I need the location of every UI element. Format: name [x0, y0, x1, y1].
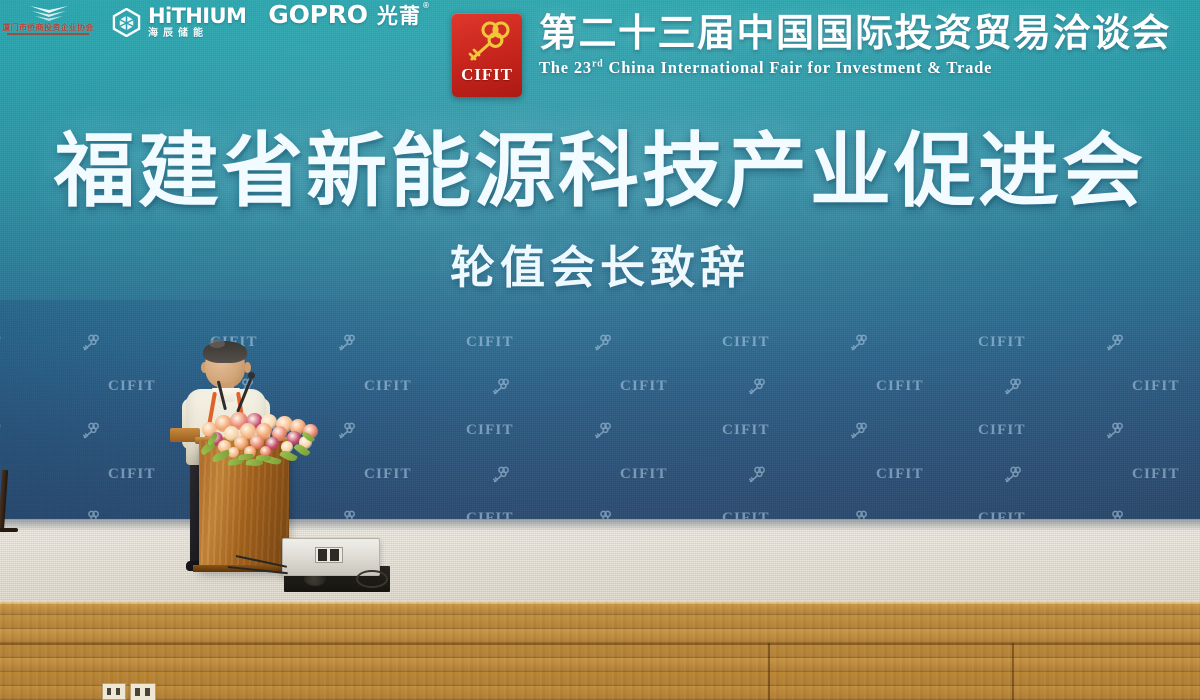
- watermark-98-key-icon: [82, 422, 99, 444]
- stage-edge-lip: [0, 601, 1200, 604]
- stage-panel-seam-h: [0, 643, 1200, 645]
- stage-floor: [0, 519, 1200, 601]
- flower-arrangement: [198, 410, 328, 472]
- watermark-98-key-icon: [82, 510, 99, 519]
- stage-wood-slat: [0, 686, 1200, 700]
- event-title-en-suffix: China International Fair for Investment …: [604, 58, 993, 77]
- speaker-hair: [203, 341, 247, 363]
- watermark-98-key-icon: [1106, 510, 1123, 519]
- watermark-text: CIFIT: [978, 422, 1026, 439]
- watermark-98-key-icon: [594, 422, 611, 444]
- watermark-text: CIFIT: [978, 510, 1026, 519]
- event-title-en-prefix: The 23: [539, 58, 592, 77]
- sponsor-label-xiamen: 厦门市侨商投资企业协会: [2, 22, 94, 33]
- watermark-text: CIFIT: [364, 378, 412, 395]
- watermark-text: CIFIT: [620, 466, 668, 483]
- watermark-text: CIFIT: [466, 510, 514, 519]
- sponsor-logo-gopro: GOPRO 光莆 ®: [268, 0, 421, 44]
- watermark-text: CIFIT: [108, 378, 156, 395]
- 98-key-icon: [464, 19, 511, 64]
- sponsor-label-gopro-en: GOPRO: [268, 0, 368, 29]
- sponsor-gopro-cn-text: 光莆: [377, 5, 421, 28]
- sponsor-rule-xiamen: [7, 33, 89, 35]
- screenshot-root: 厦门市侨商投资企业协会 HiTHIUM 海辰储能 GOPRO 光莆 ®: [0, 0, 1200, 700]
- stage-wood-slat: [0, 629, 1200, 643]
- sponsor-logo-xiamen-association: 厦门市侨商投资企业协会: [2, 2, 94, 42]
- stage-wood-front: [0, 601, 1200, 700]
- watermark-text: CIFIT: [466, 334, 514, 351]
- event-title-en-ordinal: rd: [592, 58, 604, 69]
- watermark-text: CIFIT: [876, 378, 924, 395]
- watermark-text: CIFIT: [1132, 466, 1180, 483]
- stage-wood-slat: [0, 643, 1200, 657]
- floor-texture: [0, 519, 1200, 601]
- watermark-98-key-icon: [850, 422, 867, 444]
- watermark-98-key-icon: [338, 422, 355, 444]
- watermark-98-key-icon: [594, 334, 611, 356]
- wing-emblem-icon: [28, 4, 70, 22]
- watermark-text: CIFIT: [978, 334, 1026, 351]
- sponsor-label-hithium-cn: 海辰储能: [148, 29, 246, 39]
- event-title-en: The 23rd China International Fair for In…: [539, 58, 1171, 78]
- watermark-98-key-icon: [338, 510, 355, 519]
- monitor-slot-left: [318, 549, 327, 561]
- event-title-lockup: CIFIT 第二十三届中国国际投资贸易洽谈会 The 23rd China In…: [452, 13, 1171, 97]
- stage-wood-slat: [0, 658, 1200, 672]
- watermark-text: CIFIT: [722, 510, 770, 519]
- watermark-text: CIFIT: [620, 378, 668, 395]
- stage-wood-slat: [0, 672, 1200, 686]
- watermark-text: CIFIT: [722, 334, 770, 351]
- sponsor-label-gopro-cn: 光莆 ®: [377, 0, 421, 30]
- stage-panel-seam-b: [1012, 643, 1014, 700]
- sponsor-logo-hithium: HiTHIUM 海辰储能: [112, 0, 246, 44]
- sponsor-label-hithium-en: HiTHIUM: [148, 6, 246, 27]
- watermark-text: CIFIT: [722, 422, 770, 439]
- cifit-logo-badge: CIFIT: [452, 13, 522, 97]
- watermark-text: CIFIT: [466, 422, 514, 439]
- monitor-front-panel: [315, 547, 343, 563]
- watermark-text: CIFIT: [0, 334, 2, 351]
- trademark-symbol: ®: [423, 1, 430, 10]
- banner-headline: 福建省新能源科技产业促进会: [0, 132, 1200, 213]
- cifit-wordmark: CIFIT: [461, 65, 513, 85]
- watermark-98-key-icon: [748, 466, 765, 488]
- watermark-98-key-icon: [1004, 466, 1021, 488]
- watermark-98-key-icon: [82, 334, 99, 356]
- banner-subline: 轮值会长致辞: [0, 245, 1200, 290]
- watermark-text: CIFIT: [0, 422, 2, 439]
- watermark-98-key-icon: [1106, 422, 1123, 444]
- watermark-98-key-icon: [748, 378, 765, 400]
- cifit-watermark-grid: CIFITCIFITCIFITCIFITCIFITCIFITCIFITCIFIT…: [0, 326, 1200, 519]
- watermark-text: CIFIT: [876, 466, 924, 483]
- watermark-98-key-icon: [492, 378, 509, 400]
- hex-cube-icon: [112, 8, 141, 37]
- stage-outlet-left: [102, 683, 126, 700]
- event-title-cn: 第二十三届中国国际投资贸易洽谈会: [539, 15, 1171, 55]
- monitor-slot-right: [330, 549, 339, 561]
- watermark-98-key-icon: [850, 510, 867, 519]
- watermark-98-key-icon: [338, 334, 355, 356]
- watermark-98-key-icon: [492, 466, 509, 488]
- coiled-cable: [356, 570, 388, 588]
- microphone-head-icon: [248, 372, 255, 379]
- stage-wood-slat: [0, 615, 1200, 629]
- watermark-98-key-icon: [594, 510, 611, 519]
- stage-panel-seam-a: [768, 643, 770, 700]
- watermark-text: CIFIT: [108, 466, 156, 483]
- backdrop-base-shadow: [0, 519, 1200, 531]
- stage-outlet-right: [130, 683, 156, 700]
- watermark-98-key-icon: [1004, 378, 1021, 400]
- watermark-text: CIFIT: [364, 466, 412, 483]
- mic-stand-foot: [0, 528, 18, 532]
- watermark-text: CIFIT: [1132, 378, 1180, 395]
- watermark-98-key-icon: [850, 334, 867, 356]
- watermark-98-key-icon: [1106, 334, 1123, 356]
